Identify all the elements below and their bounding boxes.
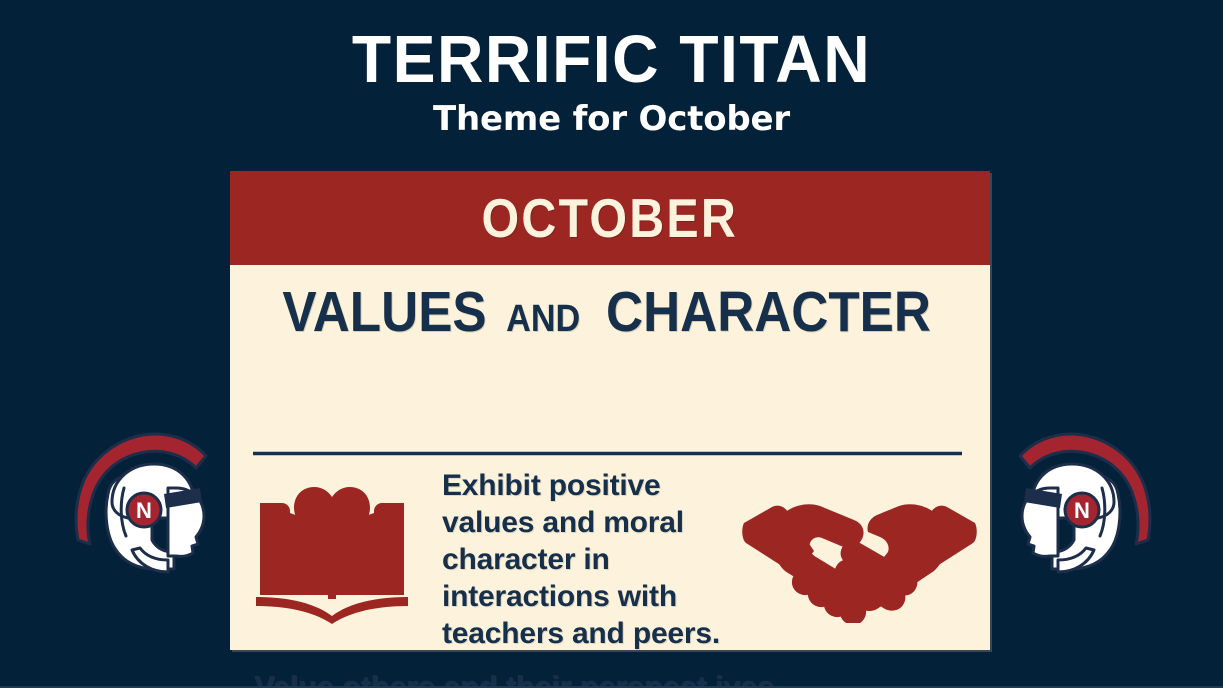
theme-description: Exhibit positive values and moral charac… [442,467,742,652]
description-line: teachers and peers. [442,615,742,652]
description-line: interactions with [442,578,742,615]
logo-monogram: N [1074,498,1090,523]
slide-canvas: TERRIFIC TITAN Theme for October OCTOBER… [0,0,1223,688]
headline-conjunction: AND [502,298,583,341]
logo-monogram: N [136,498,152,523]
month-banner: OCTOBER [230,171,990,265]
page-title: TERRIFIC TITAN [24,26,1198,94]
titan-helmet-head: N [1022,464,1120,572]
description-line: values and moral [442,504,742,541]
book-heart-icon [252,475,412,625]
handshake-icon [742,493,977,623]
theme-card: OCTOBER VALUESANDCHARACTER [230,171,990,650]
month-label: OCTOBER [482,186,739,250]
titan-helmet-head: N [106,464,204,572]
description-line: character in [442,541,742,578]
headline-divider [253,451,962,456]
titans-mascot-logo-right: N [1008,432,1158,592]
theme-headline: VALUESANDCHARACTER [230,265,990,345]
content-row: Exhibit positive values and moral charac… [230,465,990,650]
headline-part-2: CHARACTER [606,279,931,345]
headline-part-1: VALUES [282,279,486,345]
description-line: Exhibit positive [442,467,742,504]
card-body: VALUESANDCHARACTER [230,265,990,650]
slide-header: TERRIFIC TITAN Theme for October [0,0,1223,139]
page-subtitle: Theme for October [0,100,1223,139]
titans-mascot-logo-left: N [68,432,218,592]
